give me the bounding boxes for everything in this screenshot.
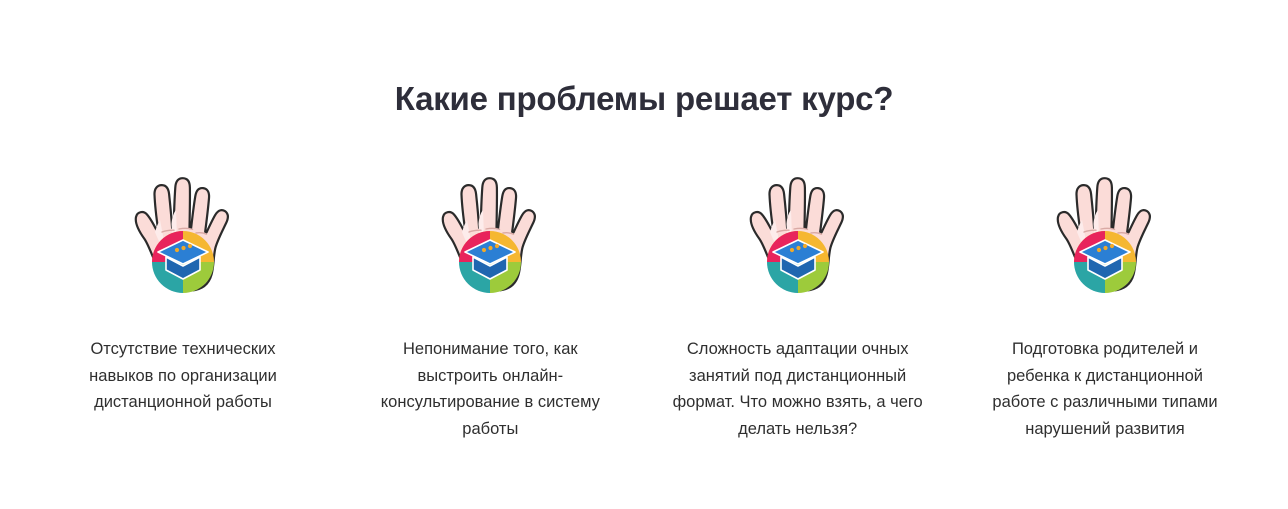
problem-cards-row: Отсутствие технических навыков по органи… xyxy=(38,160,1250,459)
problem-card: Сложность адаптации очных занятий под ди… xyxy=(653,160,943,459)
problems-section: Какие проблемы решает курс? xyxy=(0,0,1288,509)
hand-with-graduation-logo-icon xyxy=(1046,160,1164,320)
hand-with-graduation-logo-icon xyxy=(124,160,242,320)
problem-card-caption: Сложность адаптации очных занятий под ди… xyxy=(667,336,929,443)
page-title: Какие проблемы решает курс? xyxy=(0,79,1288,119)
problem-card-caption: Непонимание того, как выстроить онлайн-к… xyxy=(366,336,614,443)
hand-with-graduation-logo-icon xyxy=(739,160,857,320)
problem-card-caption: Подготовка родителей и ребенка к дистанц… xyxy=(979,336,1231,443)
hand-with-graduation-logo-icon xyxy=(431,160,549,320)
problem-card: Непонимание того, как выстроить онлайн-к… xyxy=(345,160,635,459)
problem-card: Подготовка родителей и ребенка к дистанц… xyxy=(960,160,1250,459)
problem-card-caption: Отсутствие технических навыков по органи… xyxy=(66,336,301,416)
problem-card: Отсутствие технических навыков по органи… xyxy=(38,160,328,433)
